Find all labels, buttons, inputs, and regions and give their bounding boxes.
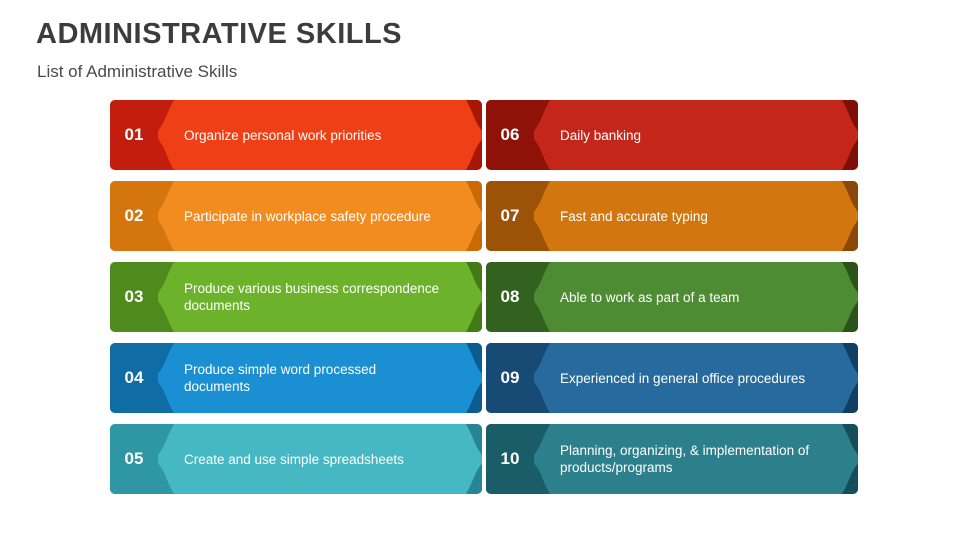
skills-column-left: 01Organize personal work priorities02Par… xyxy=(110,100,482,505)
skill-bar[interactable]: 09Experienced in general office procedur… xyxy=(486,343,858,413)
skill-label: Planning, organizing, & implementation o… xyxy=(560,424,818,494)
fold-notch-icon xyxy=(534,424,550,494)
fold-tail-icon xyxy=(830,262,858,332)
skill-bar[interactable]: 06Daily banking xyxy=(486,100,858,170)
fold-notch-icon xyxy=(158,424,174,494)
skill-label: Experienced in general office procedures xyxy=(560,343,818,413)
skill-bar[interactable]: 08Able to work as part of a team xyxy=(486,262,858,332)
fold-tail-icon xyxy=(830,343,858,413)
fold-tail-icon xyxy=(830,100,858,170)
page-subtitle: List of Administrative Skills xyxy=(37,62,237,82)
fold-notch-icon xyxy=(158,343,174,413)
fold-notch-icon xyxy=(158,262,174,332)
fold-notch-icon xyxy=(158,100,174,170)
fold-notch-icon xyxy=(534,343,550,413)
fold-notch-icon xyxy=(158,181,174,251)
skills-column-right: 06Daily banking07Fast and accurate typin… xyxy=(486,100,858,505)
skill-bar[interactable]: 10Planning, organizing, & implementation… xyxy=(486,424,858,494)
fold-notch-icon xyxy=(534,100,550,170)
skill-label: Participate in workplace safety procedur… xyxy=(184,181,442,251)
skill-number-badge: 04 xyxy=(110,343,158,413)
skill-bar[interactable]: 07Fast and accurate typing xyxy=(486,181,858,251)
skill-label: Create and use simple spreadsheets xyxy=(184,424,442,494)
skill-number-badge: 02 xyxy=(110,181,158,251)
fold-tail-icon xyxy=(454,343,482,413)
skill-label: Organize personal work priorities xyxy=(184,100,442,170)
skill-number-badge: 01 xyxy=(110,100,158,170)
fold-notch-icon xyxy=(534,181,550,251)
fold-tail-icon xyxy=(454,424,482,494)
fold-notch-icon xyxy=(534,262,550,332)
page-title: ADMINISTRATIVE SKILLS xyxy=(36,18,402,51)
skill-bar[interactable]: 05Create and use simple spreadsheets xyxy=(110,424,482,494)
skill-bar[interactable]: 01Organize personal work priorities xyxy=(110,100,482,170)
fold-tail-icon xyxy=(830,181,858,251)
skill-number-badge: 09 xyxy=(486,343,534,413)
skill-number-badge: 03 xyxy=(110,262,158,332)
skill-label: Produce simple word processed documents xyxy=(184,343,442,413)
skill-label: Daily banking xyxy=(560,100,818,170)
fold-tail-icon xyxy=(454,262,482,332)
fold-tail-icon xyxy=(454,181,482,251)
skill-number-badge: 10 xyxy=(486,424,534,494)
skill-number-badge: 08 xyxy=(486,262,534,332)
fold-tail-icon xyxy=(454,100,482,170)
slide: ADMINISTRATIVE SKILLS List of Administra… xyxy=(0,0,960,540)
skill-label: Fast and accurate typing xyxy=(560,181,818,251)
skill-bar[interactable]: 04Produce simple word processed document… xyxy=(110,343,482,413)
skill-bar[interactable]: 02Participate in workplace safety proced… xyxy=(110,181,482,251)
skill-number-badge: 06 xyxy=(486,100,534,170)
skill-number-badge: 07 xyxy=(486,181,534,251)
skill-label: Produce various business correspondence … xyxy=(184,262,442,332)
skill-number-badge: 05 xyxy=(110,424,158,494)
skill-bar[interactable]: 03Produce various business correspondenc… xyxy=(110,262,482,332)
fold-tail-icon xyxy=(830,424,858,494)
skill-label: Able to work as part of a team xyxy=(560,262,818,332)
